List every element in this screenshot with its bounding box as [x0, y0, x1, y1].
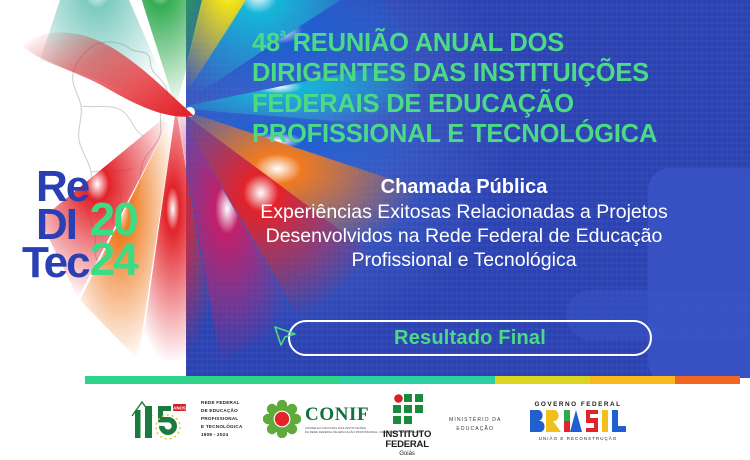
anniversary-line-2: DE EDUCAÇÃO [201, 407, 243, 415]
ministerio-line-1: MINISTÉRIO DA [449, 416, 502, 425]
edition-number: 48 [252, 29, 280, 57]
governo-federal-top: GOVERNO FEDERAL [534, 401, 621, 408]
reditec-logo: Re DI Tec 20 24 [36, 168, 137, 281]
colour-bar-segment [675, 376, 740, 384]
colour-bar-segment [340, 376, 495, 384]
logo-tec: Tec [22, 244, 89, 282]
instituto-federal-wordmark: INSTITUTO FEDERAL [383, 430, 431, 450]
instituto-federal-mark-icon [390, 394, 424, 428]
call-line-2: Desenvolvidos na Rede Federal de Educaçã… [204, 224, 724, 248]
svg-text:ANOS: ANOS [173, 405, 186, 410]
call-line-1: Experiências Exitosas Relacionadas a Pro… [204, 200, 724, 224]
main-title-line-1-rest: REUNIÃO ANUAL DOS [286, 29, 564, 57]
logo-year-24: 24 [90, 240, 137, 280]
instituto-federal-campus: Goiás [399, 451, 415, 457]
call-description: Experiências Exitosas Relacionadas a Pro… [204, 200, 724, 273]
resultado-final-badge[interactable]: Resultado Final [288, 320, 652, 356]
brasil-wordmark-icon [528, 408, 628, 434]
anniversary-line-1: REDE FEDERAL [201, 399, 243, 407]
colour-bar [85, 376, 740, 384]
anniversary-line-5: 1909 - 2024 [201, 431, 243, 439]
anniversary-line-4: E TECNOLÓGICA [201, 423, 243, 431]
main-title-line-2: DIRIGENTES DAS INSTITUIÇÕES [252, 58, 722, 88]
resultado-final-label: Resultado Final [394, 327, 546, 350]
logo-governo-federal: GOVERNO FEDERAL [528, 401, 628, 441]
governo-federal-bottom: UNIÃO E RECONSTRUÇÃO [539, 436, 618, 441]
footer-logo-bar: ANOS REDE FEDERAL DE EDUCAÇÃO PROFISSION… [0, 384, 750, 460]
anniversary-115-icon: ANOS [126, 396, 192, 442]
main-title-line-3: FEDERAIS DE EDUCAÇÃO [252, 89, 722, 119]
colour-bar-segment [495, 376, 590, 384]
logo-instituto-federal: INSTITUTO FEDERAL Goiás [383, 394, 431, 457]
footer-logos: ANOS REDE FEDERAL DE EDUCAÇÃO PROFISSION… [0, 384, 750, 460]
instituto-federal-line-2: FEDERAL [383, 440, 431, 450]
anniversary-line-3: PROFISSIONAL [201, 415, 243, 423]
colour-bar-segment [85, 376, 340, 384]
conif-flower-icon [263, 400, 301, 438]
call-line-3: Profissional e Tecnológica [204, 248, 724, 272]
poster-canvas: Re DI Tec 20 24 48ª REUNIÃO ANUAL DOS DI… [0, 0, 750, 460]
ministerio-line-2: EDUCAÇÃO [456, 425, 494, 434]
main-title-line-4: PROFISSIONAL E TECNOLÓGICA [252, 119, 722, 149]
call-heading: Chamada Pública [214, 176, 714, 199]
anniversary-115-text: REDE FEDERAL DE EDUCAÇÃO PROFISSIONAL E … [197, 396, 247, 441]
main-title: 48ª REUNIÃO ANUAL DOS DIRIGENTES DAS INS… [252, 28, 722, 149]
logo-115-anos: ANOS REDE FEDERAL DE EDUCAÇÃO PROFISSION… [126, 396, 247, 442]
cursor-arrow-icon [272, 322, 298, 348]
main-title-line-1: 48ª REUNIÃO ANUAL DOS [252, 28, 722, 58]
logo-ministerio-educacao: MINISTÉRIO DA EDUCAÇÃO [449, 416, 502, 434]
colour-bar-segment [590, 376, 675, 384]
